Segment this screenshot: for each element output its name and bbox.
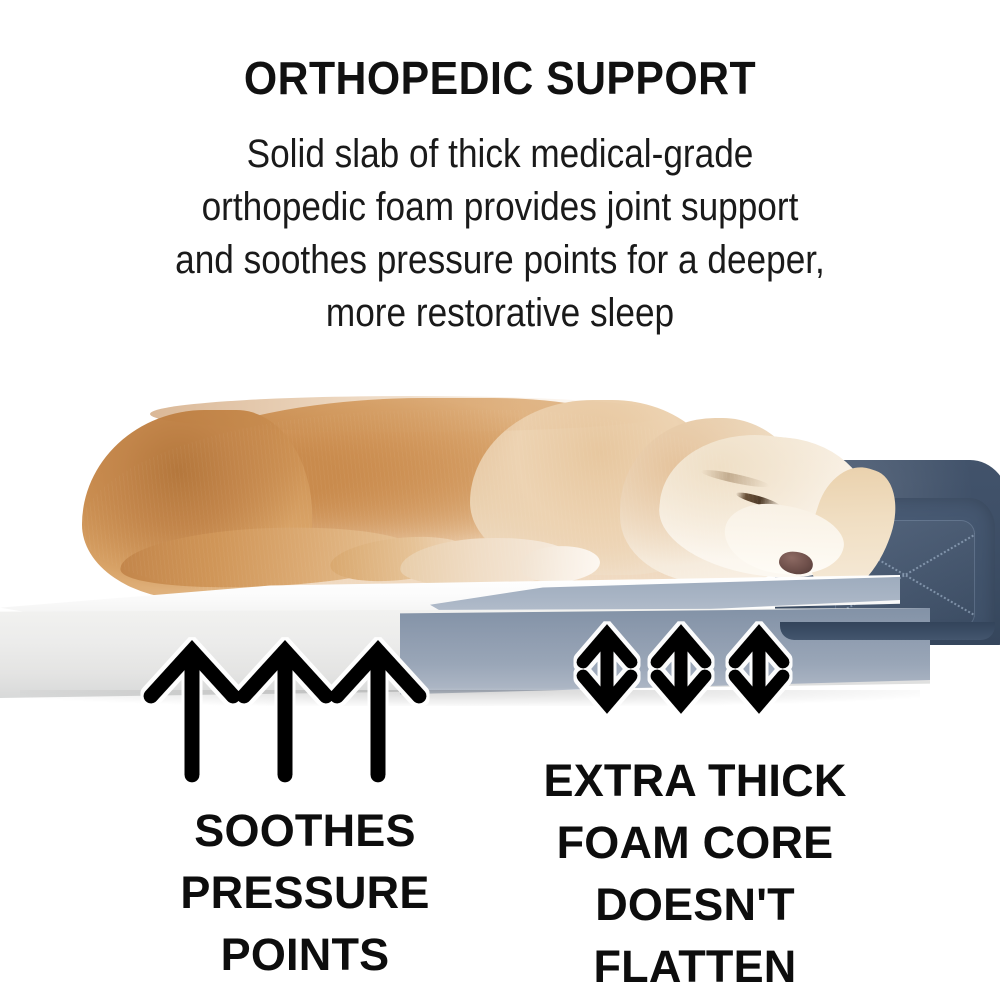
- callout-soothes-pressure-points: SOOTHES PRESSURE POINTS: [105, 800, 505, 986]
- product-photo: [0, 370, 1000, 720]
- callout-right-line-4: FLATTEN: [495, 936, 895, 998]
- bolster-base-seam: [780, 622, 995, 640]
- bed-contact-shadow: [20, 690, 920, 706]
- callout-left-line-1: SOOTHES: [105, 800, 505, 862]
- description-line-1: Solid slab of thick medical-grade: [60, 128, 940, 181]
- description-line-3: and soothes pressure points for a deeper…: [60, 234, 940, 287]
- callout-extra-thick-foam-core: EXTRA THICK FOAM CORE DOESN'T FLATTEN: [495, 750, 895, 998]
- page-title: ORTHOPEDIC SUPPORT: [35, 50, 965, 106]
- callout-right-line-3: DOESN'T: [495, 874, 895, 936]
- callout-left-line-3: POINTS: [105, 924, 505, 986]
- description-line-2: orthopedic foam provides joint support: [60, 181, 940, 234]
- description-line-4: more restorative sleep: [60, 287, 940, 340]
- callout-right-line-1: EXTRA THICK: [495, 750, 895, 812]
- description-paragraph: Solid slab of thick medical-grade orthop…: [60, 128, 940, 340]
- infographic-canvas: ORTHOPEDIC SUPPORT Solid slab of thick m…: [0, 0, 1000, 1000]
- dog-back-shading: [150, 396, 670, 432]
- callout-right-line-2: FOAM CORE: [495, 812, 895, 874]
- callout-left-line-2: PRESSURE: [105, 862, 505, 924]
